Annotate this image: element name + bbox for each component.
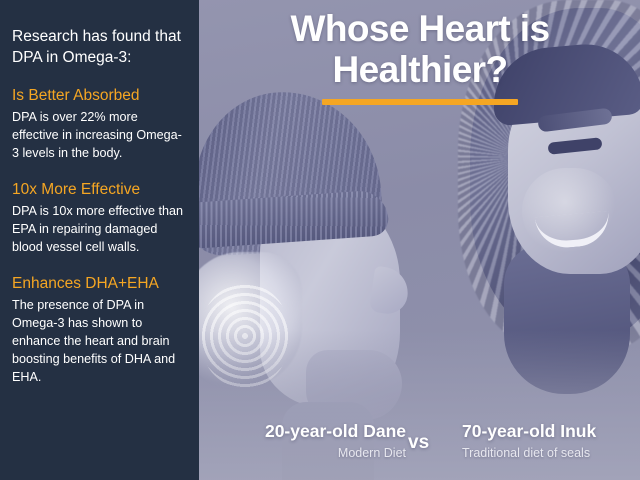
caption-left: 20-year-old Dane Modern Diet [196,421,406,462]
facts-sidebar: Research has found that DPA in Omega-3: … [0,0,199,480]
caption-right: 70-year-old Inuk Traditional diet of sea… [462,421,640,462]
fact-body: The presence of DPA in Omega-3 has shown… [12,296,186,386]
sidebar-lead-text: Research has found that DPA in Omega-3: [12,26,186,68]
caption-left-subtitle: Modern Diet [196,444,406,462]
versus-separator: vs [408,432,429,454]
title-line-1: Whose Heart is [200,8,640,49]
fact-heading: Enhances DHA+EHA [12,274,186,294]
fact-block-effectiveness: 10x More Effective DPA is 10x more effec… [12,180,186,256]
fact-body: DPA is over 22% more effective in increa… [12,108,186,162]
fact-heading: Is Better Absorbed [12,86,186,106]
title-line-2: Healthier? [200,49,640,90]
fact-heading: 10x More Effective [12,180,186,200]
caption-right-subtitle: Traditional diet of seals [462,444,640,462]
title-underline-rule [322,99,518,105]
fact-block-dha-eha: Enhances DHA+EHA The presence of DPA in … [12,274,186,386]
fact-body: DPA is 10x more effective than EPA in re… [12,202,186,256]
caption-left-title: 20-year-old Dane [196,421,406,442]
dane-nose [369,266,411,317]
fact-block-absorption: Is Better Absorbed DPA is over 22% more … [12,86,186,162]
caption-right-title: 70-year-old Inuk [462,421,640,442]
infographic-stage: Whose Heart is Healthier? Research has f… [0,0,640,480]
page-title: Whose Heart is Healthier? [200,8,640,105]
